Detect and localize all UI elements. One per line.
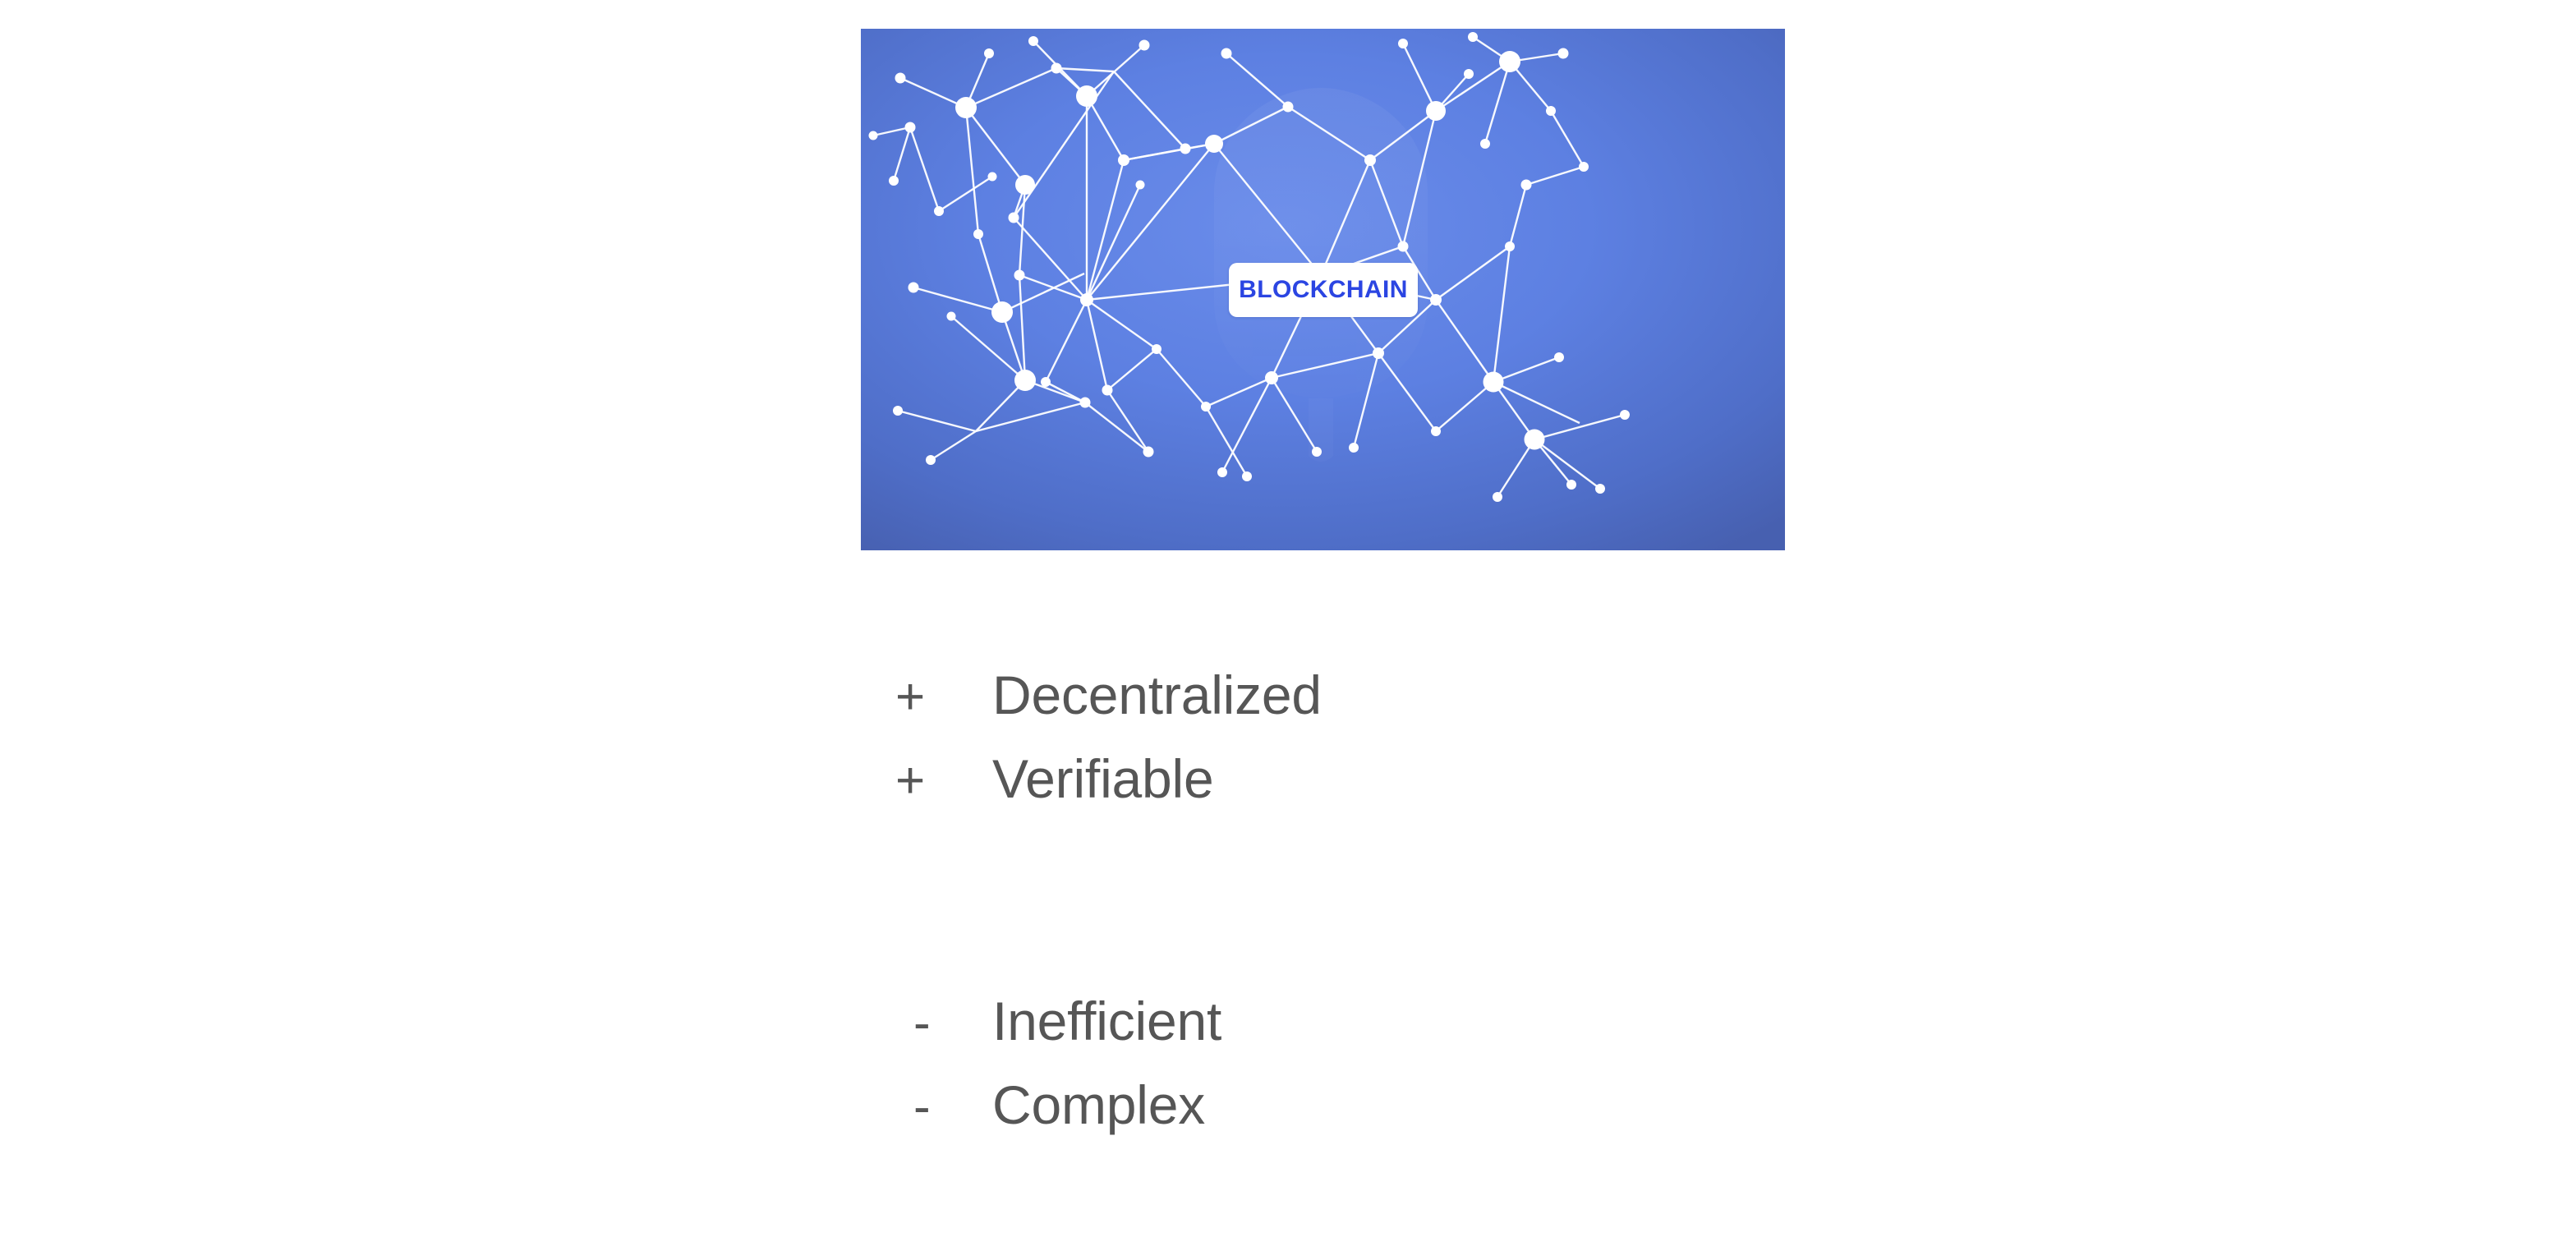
cons-item-label: Inefficient	[992, 979, 1221, 1063]
minus-marker-icon: -	[895, 982, 992, 1065]
pros-item-label: Decentralized	[992, 653, 1322, 737]
minus-marker-icon: -	[895, 1065, 992, 1149]
pros-list: + Decentralized + Verifiable	[895, 653, 1322, 821]
list-item: - Complex	[895, 1063, 1221, 1147]
blockchain-badge: BLOCKCHAIN	[1229, 263, 1418, 317]
slide-canvas: BLOCKCHAIN + Decentralized + Verifiable …	[0, 0, 2576, 1237]
list-item: + Verifiable	[895, 737, 1322, 821]
plus-marker-icon: +	[895, 655, 992, 739]
blockchain-badge-label: BLOCKCHAIN	[1239, 276, 1408, 304]
pros-item-label: Verifiable	[992, 737, 1214, 821]
cons-list: - Inefficient - Complex	[895, 979, 1221, 1147]
list-item: + Decentralized	[895, 653, 1322, 737]
plus-marker-icon: +	[895, 739, 992, 823]
cons-item-label: Complex	[992, 1063, 1205, 1147]
list-item: - Inefficient	[895, 979, 1221, 1063]
